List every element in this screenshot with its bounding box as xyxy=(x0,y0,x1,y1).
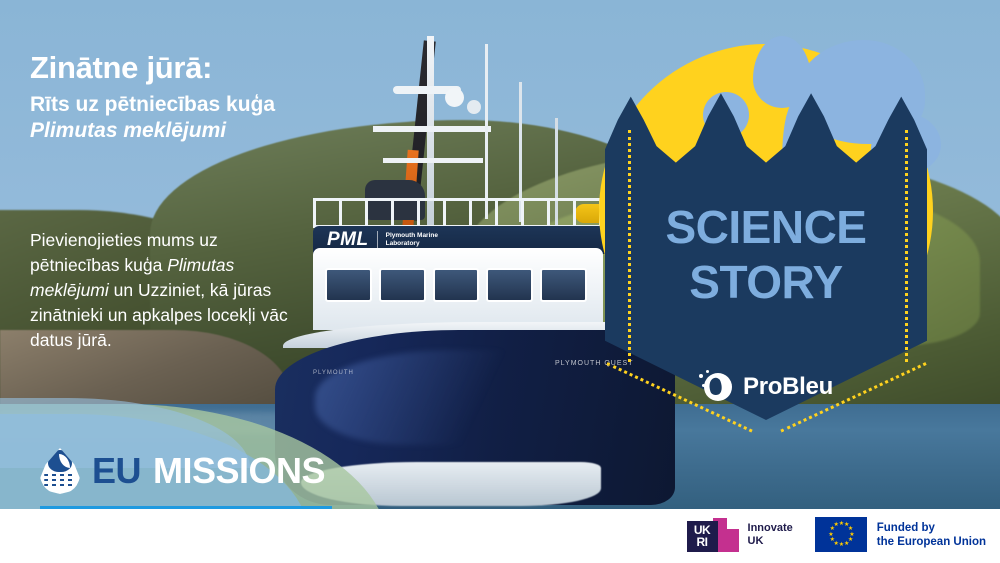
eu-flag-star: ★ xyxy=(834,523,838,527)
bridge-window xyxy=(540,268,587,302)
mast-crossbar-lower xyxy=(383,158,483,163)
slide-canvas: PML Plymouth Marine Laboratory PLYMOUTH … xyxy=(0,0,1000,563)
bow-name-text: PLYMOUTH xyxy=(313,370,354,376)
eu-funding-label: Funded by the European Union xyxy=(877,521,986,549)
probleu-wordmark: ProBleu xyxy=(743,373,833,401)
eu-flag-star: ★ xyxy=(839,522,843,526)
eu-funding-line2: the European Union xyxy=(877,536,986,548)
badge-title: SCIENCE STORY xyxy=(605,200,927,310)
innovate-uk-line1: Innovate xyxy=(748,522,793,534)
innovate-uk-line2: UK xyxy=(748,535,764,547)
bridge-window xyxy=(433,268,480,302)
pml-subtitle-line1: Plymouth Marine xyxy=(386,232,438,239)
science-story-badge: SCIENCE STORY ProBleu xyxy=(585,18,945,438)
deck-railing xyxy=(313,198,613,228)
ukri-mark-icon: UK RI xyxy=(687,518,739,552)
badge-title-line1: SCIENCE xyxy=(605,200,927,255)
brand-divider xyxy=(377,231,378,249)
eu-flag-icon: ★★★★★★★★★★★★ xyxy=(815,517,867,552)
funder-logos: UK RI Innovate UK ★★★★★★★★★★★★ Funded by… xyxy=(687,517,986,552)
eu-missions-logo: EU MISSIONS xyxy=(40,448,325,494)
eu-flag-star: ★ xyxy=(848,527,852,531)
bridge-windows xyxy=(325,268,587,302)
page-title: Zinātne jūrā: xyxy=(30,50,330,86)
pml-subtitle-line2: Laboratory xyxy=(386,240,420,247)
radar-dome-small xyxy=(467,100,481,114)
bridge-window xyxy=(325,268,372,302)
eu-flag-star: ★ xyxy=(839,543,843,547)
ukri-mark-line2: RI xyxy=(697,536,708,548)
eu-missions-missions-word: MISSIONS xyxy=(153,450,325,492)
footer-bar: UK RI Innovate UK ★★★★★★★★★★★★ Funded by… xyxy=(0,509,1000,563)
innovate-uk-label: Innovate UK xyxy=(748,522,793,548)
pml-subtitle: Plymouth Marine Laboratory xyxy=(386,232,438,248)
water-drop-icon xyxy=(40,448,80,494)
eu-missions-eu-word: EU xyxy=(92,450,141,492)
eu-funding-line1: Funded by xyxy=(877,522,935,534)
probleu-logo: ProBleu xyxy=(605,370,927,404)
antenna-a xyxy=(485,44,488,219)
eu-flag-star: ★ xyxy=(844,542,848,546)
eu-flag-star: ★ xyxy=(828,533,832,537)
badge-title-line2: STORY xyxy=(605,255,927,310)
eu-flag-star: ★ xyxy=(849,533,853,537)
ukri-innovate-uk-logo: UK RI Innovate UK xyxy=(687,518,793,552)
subtitle-line: Rīts uz pētniecības kuģa xyxy=(30,92,330,118)
bridge-window xyxy=(486,268,533,302)
subtitle-italic-line: Plimutas meklējumi xyxy=(30,118,330,144)
mast-crossbar-upper xyxy=(373,126,491,132)
body-paragraph: Pievienojieties mums uz pētniecības kuģa… xyxy=(30,228,292,353)
radar-dome xyxy=(445,88,464,107)
eu-flag-star: ★ xyxy=(830,538,834,542)
eu-funding-logo: ★★★★★★★★★★★★ Funded by the European Unio… xyxy=(815,517,986,552)
probleu-swirl-icon xyxy=(699,370,733,404)
bridge-window xyxy=(379,268,426,302)
headline-block: Zinātne jūrā: Rīts uz pētniecības kuģa P… xyxy=(30,50,330,144)
